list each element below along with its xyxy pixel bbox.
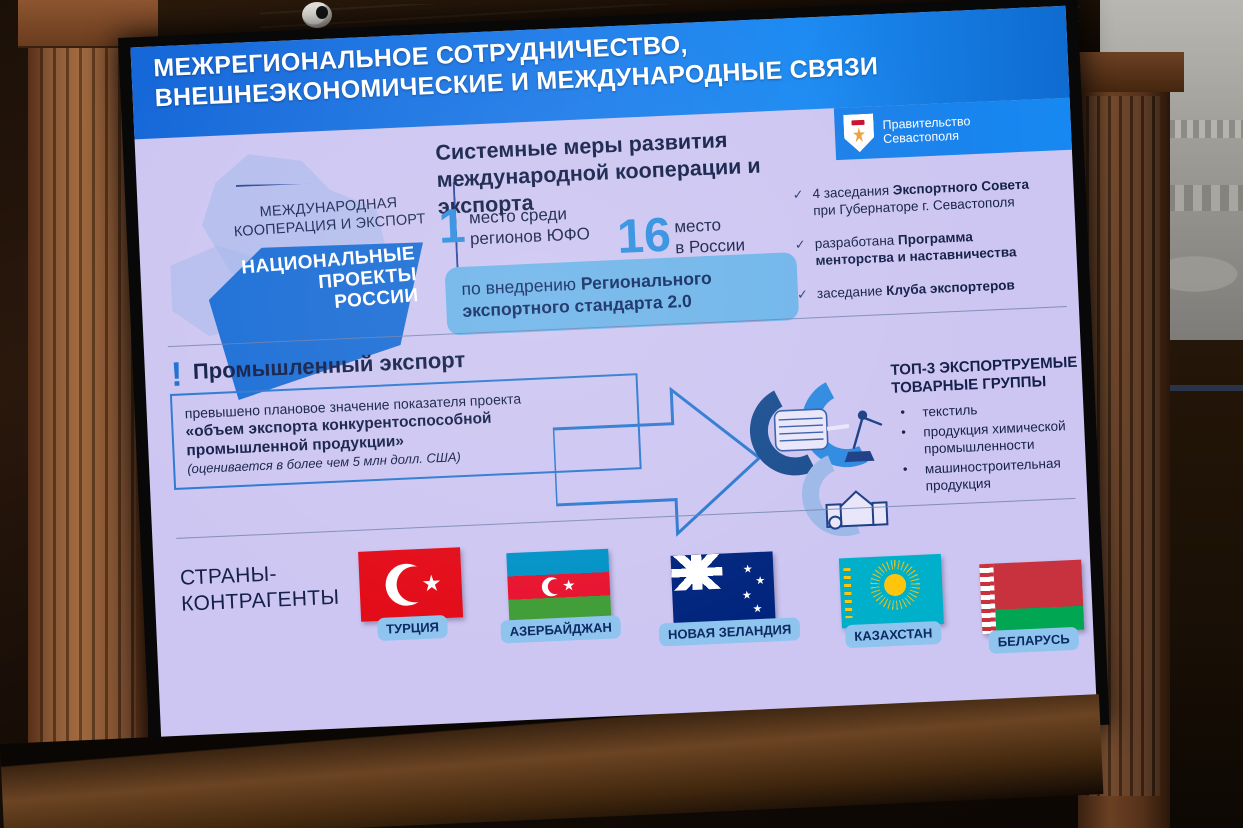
country-azerbaijan: АЗЕРБАЙДЖАН bbox=[491, 548, 627, 644]
left-column-flutes bbox=[40, 40, 136, 785]
checklist-item: ✓ разработана Программа менторства и нас… bbox=[794, 224, 1070, 270]
country-name: НОВАЯ ЗЕЛАНДИЯ bbox=[659, 617, 801, 646]
checklist-text: заседание Клуба экспортеров bbox=[817, 276, 1016, 302]
kazakhstan-flag-icon bbox=[839, 554, 944, 628]
stat-number: 1 bbox=[438, 205, 467, 250]
badge-prefix: по внедрению bbox=[461, 274, 581, 299]
top3-export-groups: ТОП-3 ЭКСПОРТРУЕМЫЕ ТОВАРНЫЕ ГРУППЫ текс… bbox=[890, 353, 1091, 499]
country-kazakhstan: КАЗАХСТАН bbox=[824, 553, 960, 649]
check-icon: ✓ bbox=[792, 186, 804, 220]
stat-label: место среди регионов ЮФО bbox=[468, 199, 590, 249]
country-name: БЕЛАРУСЬ bbox=[988, 627, 1079, 654]
countries-label: СТРАНЫ- КОНТРАГЕНТЫ bbox=[180, 559, 340, 618]
display-screen-bezel: МЕЖРЕГИОНАЛЬНОЕ СОТРУДНИЧЕСТВО, ВНЕШНЕЭК… bbox=[118, 0, 1110, 767]
country-turkey: ТУРЦИЯ bbox=[343, 547, 479, 643]
photo-of-presentation-screen: МЕЖРЕГИОНАЛЬНОЕ СОТРУДНИЧЕСТВО, ВНЕШНЕЭК… bbox=[0, 0, 1243, 828]
slide-title: МЕЖРЕГИОНАЛЬНОЕ СОТРУДНИЧЕСТВО, ВНЕШНЕЭК… bbox=[153, 21, 879, 113]
list-item: машиностроительная продукция bbox=[895, 453, 1091, 496]
government-logo: Правительство Севастополя bbox=[834, 97, 1081, 160]
ceiling-camera-icon bbox=[302, 2, 332, 28]
check-icon: ✓ bbox=[797, 286, 809, 303]
checklist-item: ✓ заседание Клуба экспортеров bbox=[797, 274, 1072, 303]
exclamation-icon: ! bbox=[170, 357, 183, 391]
country-name: АЗЕРБАЙДЖАН bbox=[500, 615, 621, 643]
presentation-slide: МЕЖРЕГИОНАЛЬНОЕ СОТРУДНИЧЕСТВО, ВНЕШНЕЭК… bbox=[130, 6, 1096, 747]
check-icon: ✓ bbox=[794, 236, 806, 270]
country-belarus: БЕЛАРУСЬ bbox=[964, 559, 1096, 655]
counterparty-countries: ТУРЦИЯ АЗЕРБАЙДЖАН Н bbox=[343, 513, 1095, 696]
top3-list: текстиль продукция химической промышленн… bbox=[892, 396, 1091, 496]
stat-label: место в России bbox=[674, 210, 746, 258]
achievements-checklist: ✓ 4 заседания Экспортного Совета при Губ… bbox=[792, 174, 1073, 319]
top3-title: ТОП-3 ЭКСПОРТРУЕМЫЕ ТОВАРНЫЕ ГРУППЫ bbox=[890, 353, 1086, 398]
turkey-flag-icon bbox=[358, 547, 463, 621]
country-name: КАЗАХСТАН bbox=[845, 621, 942, 648]
regional-standard-badge: по внедрению Регионального экспортного с… bbox=[445, 252, 800, 336]
country-name: ТУРЦИЯ bbox=[377, 615, 449, 641]
stat-number: 16 bbox=[616, 214, 671, 260]
list-item: продукция химической промышленности bbox=[893, 416, 1089, 459]
right-column-capital bbox=[1066, 52, 1184, 92]
azerbaijan-flag-icon bbox=[506, 549, 611, 623]
stat-rank-russia: 16 место в России bbox=[616, 210, 745, 261]
stat-rank-ufo: 1 место среди регионов ЮФО bbox=[438, 199, 591, 251]
government-logo-text: Правительство Севастополя bbox=[882, 114, 971, 147]
checklist-text: разработана Программа менторства и наста… bbox=[814, 226, 1016, 269]
country-new-zealand: НОВАЯ ЗЕЛАНДИЯ bbox=[656, 551, 792, 647]
belarus-flag-icon bbox=[979, 560, 1084, 634]
new-zealand-flag-icon bbox=[671, 551, 776, 625]
